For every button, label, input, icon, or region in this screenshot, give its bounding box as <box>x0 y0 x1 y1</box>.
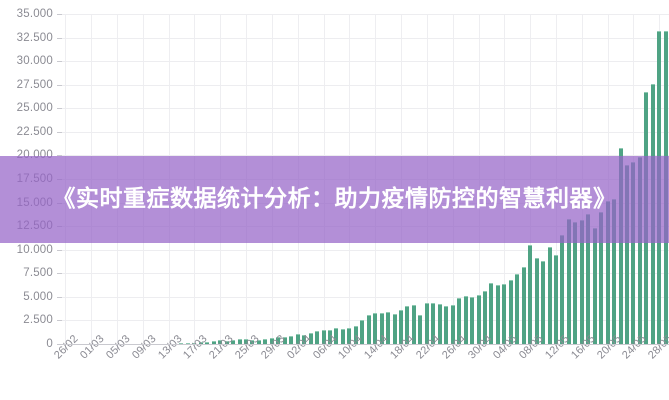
gridline-horizontal <box>62 38 669 39</box>
bar <box>470 297 474 344</box>
gridline-horizontal <box>62 132 669 133</box>
y-axis-tick-label: 27.500 <box>17 79 53 91</box>
x-axis: 26/0201/0305/0309/0313/0317/0321/0325/03… <box>0 344 669 400</box>
bar <box>554 255 558 344</box>
gridline-horizontal <box>62 320 669 321</box>
bar <box>560 235 564 344</box>
y-axis-tick-label: 30.000 <box>17 55 53 67</box>
bar <box>477 295 481 344</box>
y-axis-tick-label: 5.000 <box>23 291 53 303</box>
bar <box>393 314 397 344</box>
bar <box>418 315 422 344</box>
y-axis-tick-label: 7.500 <box>23 267 53 279</box>
gridline-horizontal <box>62 14 669 15</box>
bar <box>367 315 371 344</box>
bar <box>289 336 293 344</box>
bar <box>548 247 552 344</box>
overlay-title: 《实时重症数据统计分析：助力疫情防控的智慧利器》 <box>53 184 617 215</box>
gridline-horizontal <box>62 61 669 62</box>
chart-screenshot: 02.5005.0007.50010.00012.50015.00017.500… <box>0 0 669 400</box>
x-axis-baseline <box>57 344 669 345</box>
bar <box>496 285 500 344</box>
bar <box>522 267 526 344</box>
y-axis-tick-label: 32.500 <box>17 32 53 44</box>
gridline-horizontal <box>62 108 669 109</box>
bar <box>444 306 448 344</box>
y-axis-tick-label: 22.500 <box>17 126 53 138</box>
y-axis-tick-label: 2.500 <box>23 314 53 326</box>
bar <box>528 245 532 344</box>
y-axis-tick-label: 35.000 <box>17 8 53 20</box>
bar <box>341 329 345 344</box>
bar <box>515 274 519 344</box>
bar <box>541 261 545 344</box>
bar <box>489 283 493 344</box>
gridline-horizontal <box>62 85 669 86</box>
y-axis-tick-label: 25.000 <box>17 102 53 114</box>
bar <box>315 331 319 344</box>
bar <box>502 284 506 344</box>
bar <box>593 228 597 344</box>
bar <box>535 258 539 344</box>
gridline-horizontal <box>62 297 669 298</box>
gridline-horizontal <box>62 273 669 274</box>
gridline-horizontal <box>62 250 669 251</box>
overlay-banner: 《实时重症数据统计分析：助力疫情防控的智慧利器》 <box>0 156 669 243</box>
y-axis-tick-label: 10.000 <box>17 244 53 256</box>
